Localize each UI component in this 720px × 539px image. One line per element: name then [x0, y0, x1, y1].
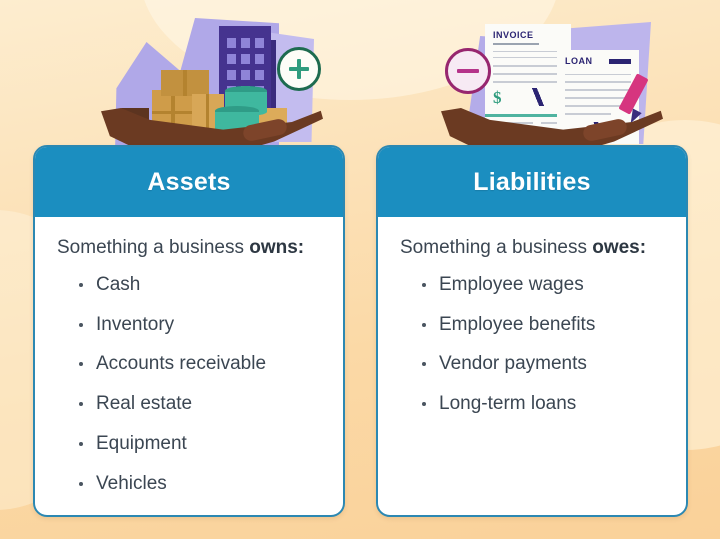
assets-subtitle-prefix: Something a business [57, 237, 249, 258]
liabilities-list: Employee wages Employee benefits Vendor … [400, 274, 664, 415]
minus-circle-icon [445, 48, 491, 94]
liabilities-subtitle-emphasis: owes: [592, 237, 646, 258]
list-item: Accounts receivable [79, 353, 321, 375]
cardboard-box [161, 70, 209, 96]
liabilities-card: Liabilities Something a business owes: E… [376, 145, 688, 517]
list-item: Inventory [79, 314, 321, 336]
list-item: Equipment [79, 433, 321, 455]
liabilities-card-header: Liabilities [378, 147, 686, 217]
loan-label: LOAN [565, 56, 593, 66]
list-item: Vehicles [79, 473, 321, 495]
liabilities-subtitle: Something a business owes: [400, 237, 664, 260]
plus-circle-icon [277, 47, 321, 91]
assets-card-header: Assets [35, 147, 343, 217]
liabilities-card-body: Something a business owes: Employee wage… [378, 217, 686, 415]
infographic-canvas: INVOICE $ LOAN [0, 0, 720, 539]
list-item: Real estate [79, 393, 321, 415]
list-item: Cash [79, 274, 321, 296]
assets-card-title: Assets [147, 168, 230, 197]
liabilities-card-title: Liabilities [473, 168, 591, 197]
list-item: Long-term loans [422, 393, 664, 415]
list-item: Employee wages [422, 274, 664, 296]
list-item: Employee benefits [422, 314, 664, 336]
list-item: Vendor payments [422, 353, 664, 375]
assets-card-body: Something a business owns: Cash Inventor… [35, 217, 343, 495]
invoice-label: INVOICE [493, 30, 534, 40]
assets-subtitle-emphasis: owns: [249, 237, 304, 258]
liabilities-subtitle-prefix: Something a business [400, 237, 592, 258]
assets-illustration [97, 12, 327, 162]
assets-subtitle: Something a business owns: [57, 237, 321, 260]
liabilities-illustration: INVOICE $ LOAN [437, 12, 667, 162]
assets-list: Cash Inventory Accounts receivable Real … [57, 274, 321, 495]
assets-card: Assets Something a business owns: Cash I… [33, 145, 345, 517]
signature-mark [521, 88, 555, 106]
